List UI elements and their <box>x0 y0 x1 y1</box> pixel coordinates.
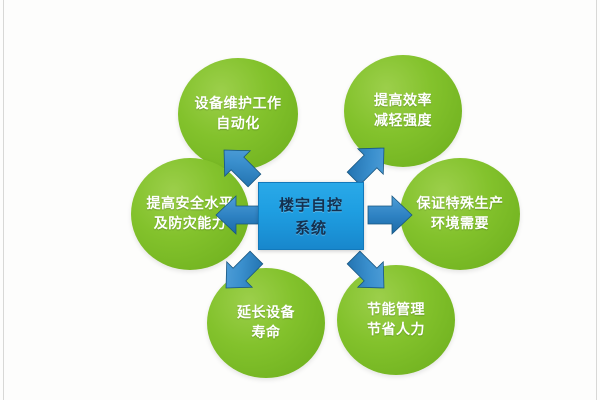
diagram-canvas: 设备维护工作 自动化 提高效率 减轻强度 提高安全水平 及防灾能力 保证特殊生产… <box>0 0 600 400</box>
arrow-left-icon <box>214 190 262 240</box>
arrow-down-right-icon <box>340 246 394 296</box>
node-label-line: 环境需要 <box>431 214 489 234</box>
node-special-production: 保证特殊生产 环境需要 <box>400 158 520 270</box>
page-edge-right <box>596 0 597 400</box>
node-label-line: 寿命 <box>252 323 281 343</box>
node-label-line: 节能管理 <box>367 300 425 320</box>
node-label-line: 自动化 <box>216 114 260 134</box>
center-label-line: 系统 <box>295 217 327 238</box>
arrow-down-left-icon <box>216 246 270 296</box>
center-label-line: 楼宇自控 <box>279 194 343 215</box>
node-label-line: 设备维护工作 <box>195 94 282 114</box>
node-label-line: 延长设备 <box>237 303 295 323</box>
center-node-building-automation: 楼宇自控 系统 <box>258 182 364 250</box>
page-edge-left <box>3 0 4 400</box>
node-label-line: 保证特殊生产 <box>417 194 504 214</box>
arrow-right-icon <box>366 190 414 240</box>
node-label-line: 提高效率 <box>374 91 432 111</box>
node-label-line: 减轻强度 <box>374 111 432 131</box>
node-label-line: 节省人力 <box>367 320 425 340</box>
